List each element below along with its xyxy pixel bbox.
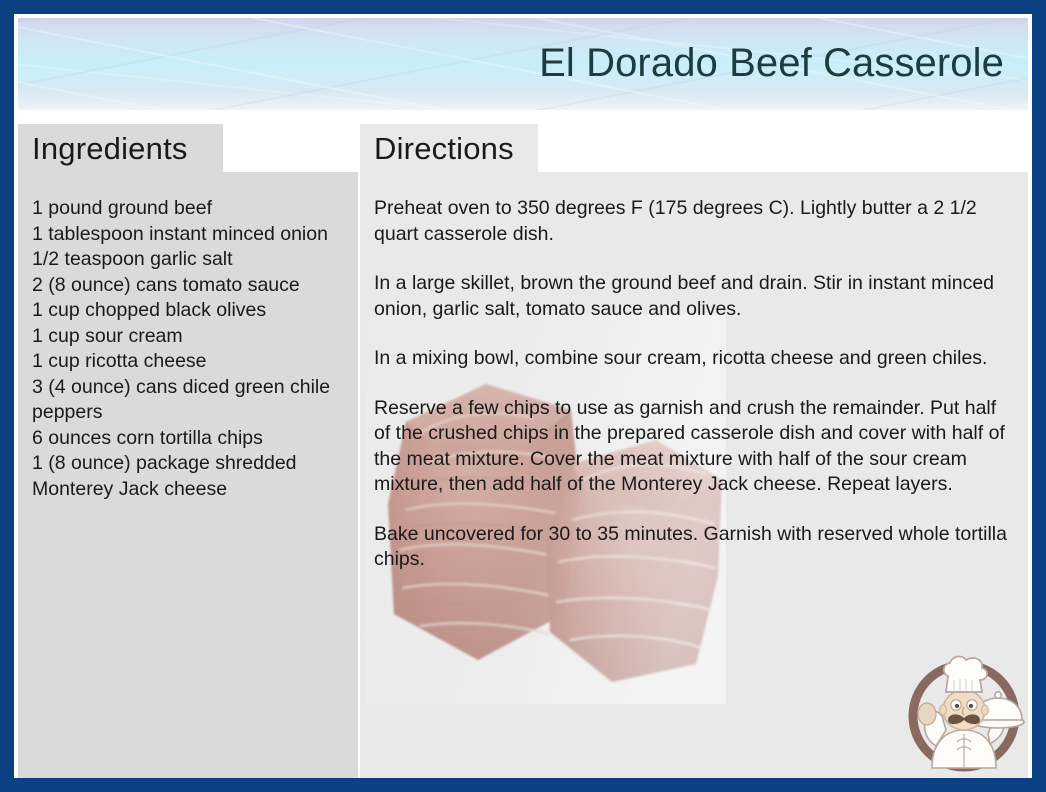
- chef-toque-icon: [944, 656, 987, 692]
- direction-step: In a large skillet, brown the ground bee…: [374, 271, 1010, 322]
- page-title: El Dorado Beef Casserole: [539, 42, 1004, 84]
- ingredient-item: 1 pound ground beef: [32, 196, 346, 222]
- recipe-card-slide: El Dorado Beef Casserole Ingredients 1 p…: [0, 0, 1046, 792]
- directions-heading: Directions: [374, 131, 514, 167]
- ingredient-item: 1 cup chopped black olives: [32, 298, 346, 324]
- direction-step: Reserve a few chips to use as garnish an…: [374, 396, 1010, 498]
- chef-mascot-logo: [902, 650, 1026, 774]
- recipe-card-inner: El Dorado Beef Casserole Ingredients 1 p…: [14, 14, 1032, 778]
- ingredients-list: 1 pound ground beef1 tablespoon instant …: [18, 172, 358, 778]
- ingredient-item: 2 (8 ounce) cans tomato sauce: [32, 273, 346, 299]
- direction-step: In a mixing bowl, combine sour cream, ri…: [374, 346, 1010, 372]
- ingredients-heading-band: Ingredients: [18, 124, 358, 172]
- ingredient-item: 1/2 teaspoon garlic salt: [32, 247, 346, 273]
- header-banner: El Dorado Beef Casserole: [18, 18, 1028, 110]
- ingredient-item: 1 cup sour cream: [32, 324, 346, 350]
- ingredients-heading: Ingredients: [32, 131, 188, 167]
- ingredient-item: 1 tablespoon instant minced onion: [32, 222, 346, 248]
- ingredient-item: 1 (8 ounce) package shredded Monterey Ja…: [32, 451, 346, 502]
- ingredients-panel: Ingredients 1 pound ground beef1 tablesp…: [18, 124, 358, 778]
- raw-beef-cubes-photo: [366, 314, 726, 704]
- direction-step: Preheat oven to 350 degrees F (175 degre…: [374, 196, 1010, 247]
- ingredient-item: 1 cup ricotta cheese: [32, 349, 346, 375]
- ingredient-item: 6 ounces corn tortilla chips: [32, 426, 346, 452]
- ingredient-item: 3 (4 ounce) cans diced green chile peppe…: [32, 375, 346, 426]
- direction-step: Bake uncovered for 30 to 35 minutes. Gar…: [374, 522, 1010, 573]
- directions-heading-band: Directions: [360, 124, 1028, 172]
